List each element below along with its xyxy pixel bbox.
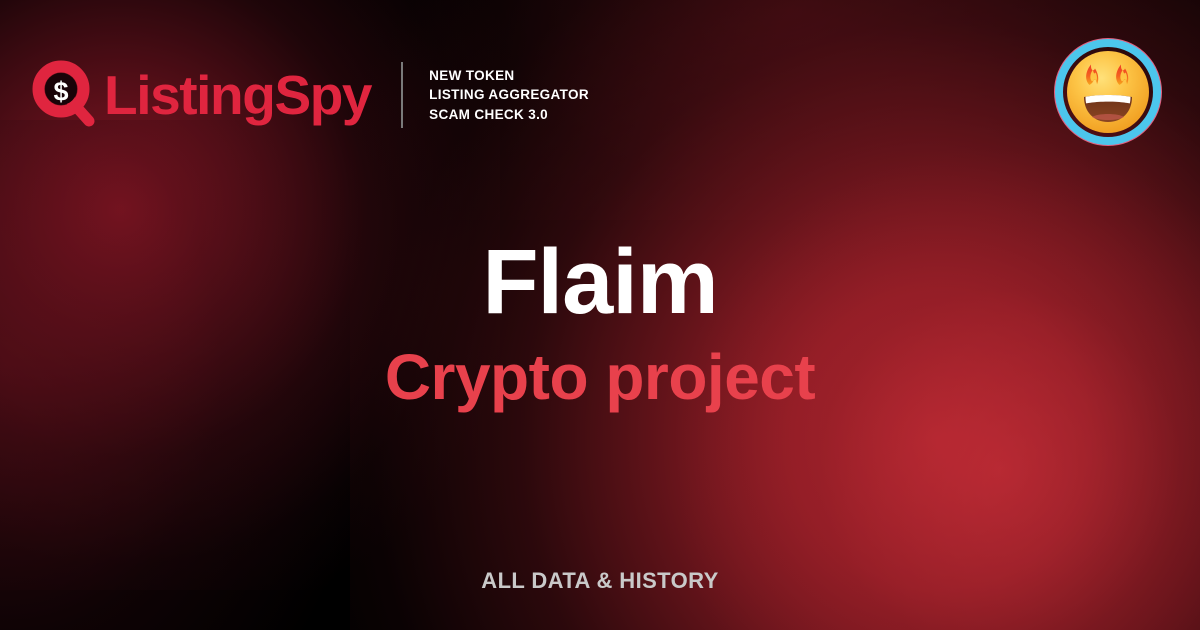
header-divider: [401, 62, 403, 128]
project-identity: Flaim Crypto project: [0, 236, 1200, 411]
project-title: Flaim: [0, 236, 1200, 330]
fire-eyes-grin-emoji-icon: [1054, 38, 1162, 146]
tagline-line-1: NEW TOKEN: [429, 66, 589, 85]
tagline-line-3: SCAM CHECK 3.0: [429, 105, 589, 124]
tagline-line-2: LISTING AGGREGATOR: [429, 85, 589, 104]
project-subtitle: Crypto project: [0, 344, 1200, 411]
project-avatar[interactable]: [1054, 38, 1162, 146]
svg-text:$: $: [53, 77, 68, 107]
share-card: $ ListingSpy NEW TOKEN LISTING AGGREGATO…: [0, 0, 1200, 630]
footer-caption: ALL DATA & HISTORY: [0, 568, 1200, 594]
brand-wordmark: ListingSpy: [104, 68, 371, 123]
brand-header: $ ListingSpy NEW TOKEN LISTING AGGREGATO…: [32, 52, 589, 138]
logo-lockup[interactable]: $ ListingSpy: [32, 60, 371, 130]
brand-tagline: NEW TOKEN LISTING AGGREGATOR SCAM CHECK …: [429, 66, 589, 123]
magnifier-dollar-icon: $: [32, 60, 98, 130]
